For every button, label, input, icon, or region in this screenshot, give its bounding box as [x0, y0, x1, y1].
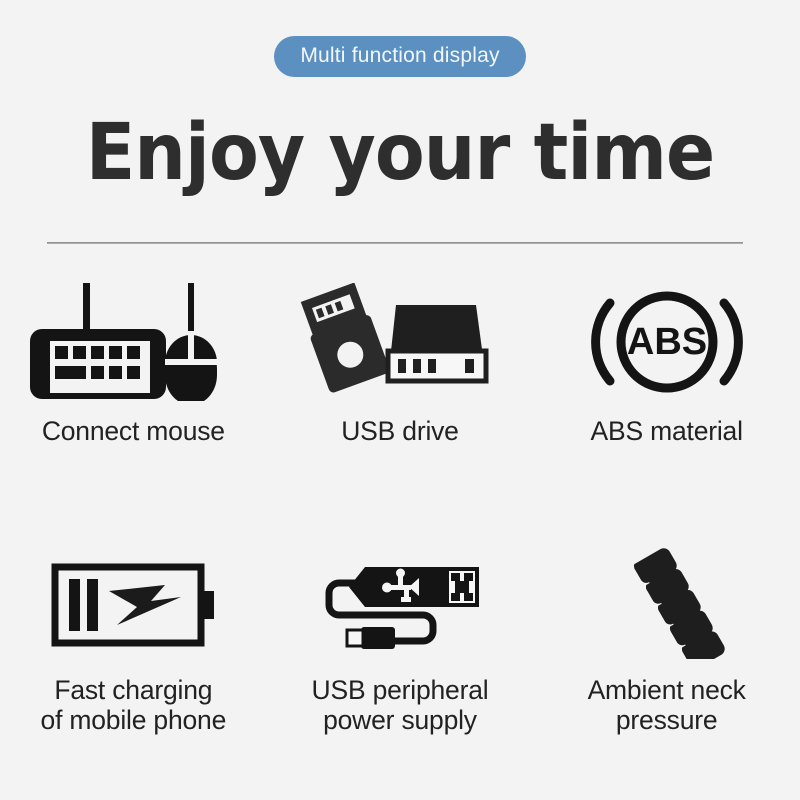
feature-usb-drive: USB drive: [267, 282, 534, 447]
divider: [47, 242, 743, 244]
usb-drive-icon: [300, 282, 500, 402]
feature-connect-mouse: Connect mouse: [0, 282, 267, 447]
feature-grid: Connect mouse: [0, 282, 800, 736]
feature-fast-charging: Fast charging of mobile phone: [0, 545, 267, 736]
feature-label: ABS material: [591, 416, 743, 447]
feature-label: Connect mouse: [42, 416, 225, 447]
badge-row: Multi function display: [0, 36, 800, 77]
feature-label: Ambient neck pressure: [588, 675, 746, 736]
spine-icon: [602, 545, 732, 661]
feature-label: USB peripheral power supply: [312, 675, 489, 736]
feature-usb-peripheral: USB peripheral power supply: [267, 545, 534, 736]
feature-ambient-neck-pressure: Ambient neck pressure: [533, 545, 800, 736]
multi-function-display-badge: Multi function display: [274, 36, 525, 77]
keyboard-mouse-icon: [28, 282, 238, 402]
battery-charging-icon: [33, 545, 233, 661]
usb-cable-icon: [305, 545, 495, 661]
feature-abs-material: ABS ABS material: [533, 282, 800, 447]
feature-label: Fast charging of mobile phone: [41, 675, 227, 736]
abs-icon-text: ABS: [627, 321, 707, 363]
infographic-page: Multi function display Enjoy your time: [0, 0, 800, 800]
feature-label: USB drive: [341, 416, 459, 447]
abs-material-icon: ABS: [582, 282, 752, 402]
page-title: Enjoy your time: [28, 114, 772, 192]
